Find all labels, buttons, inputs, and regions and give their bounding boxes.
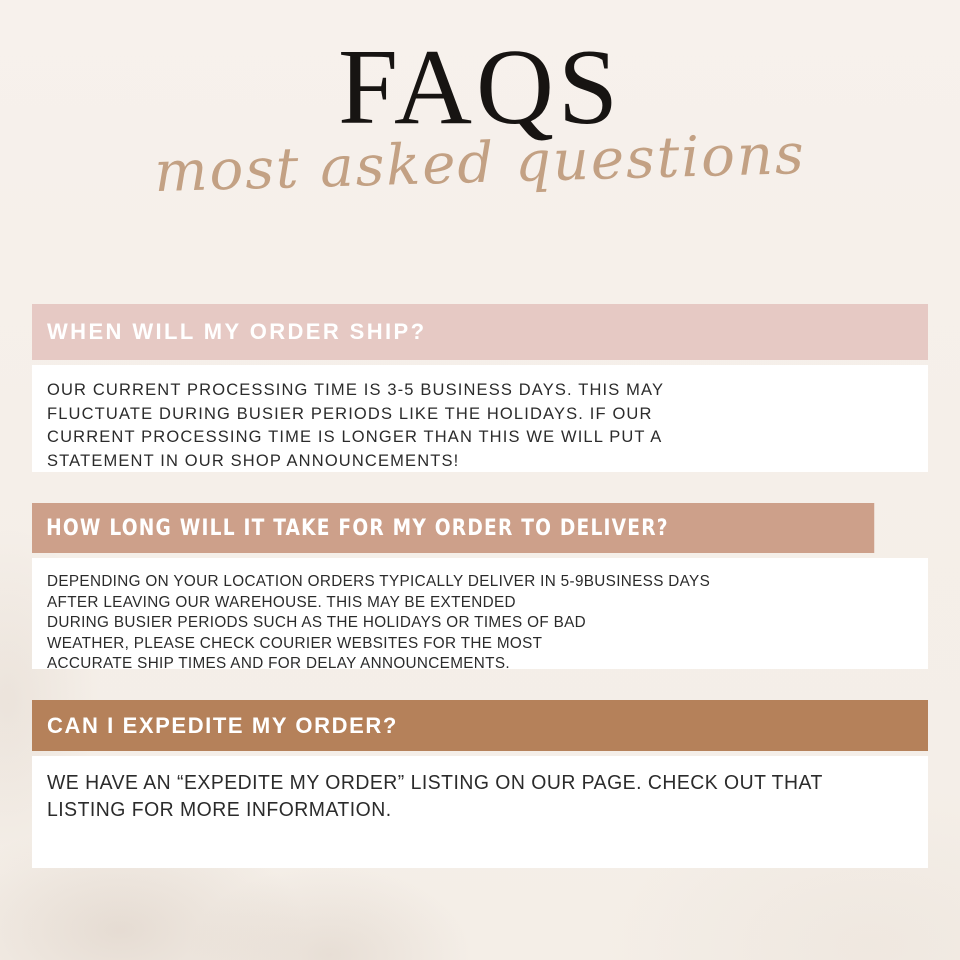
faq-answer-text: DEPENDING ON YOUR LOCATION ORDERS TYPICA… [47, 572, 871, 675]
faq-list: WHEN WILL MY ORDER SHIP? OUR CURRENT PRO… [32, 304, 928, 868]
block-spacer [32, 472, 928, 503]
page-title: FAQS [0, 0, 960, 142]
faq-answer-panel: DEPENDING ON YOUR LOCATION ORDERS TYPICA… [32, 558, 928, 669]
faq-question-bar[interactable]: CAN I EXPEDITE MY ORDER? [32, 700, 928, 751]
faq-item-order-ship: WHEN WILL MY ORDER SHIP? OUR CURRENT PRO… [32, 304, 928, 472]
faq-answer-panel: OUR CURRENT PROCESSING TIME IS 3-5 BUSIN… [32, 365, 928, 472]
faq-question-bar[interactable]: HOW LONG WILL IT TAKE FOR MY ORDER TO DE… [32, 503, 874, 553]
page-header: FAQS most asked questions [0, 0, 960, 192]
faq-answer-panel: WE HAVE AN “EXPEDITE MY ORDER” LISTING O… [32, 756, 928, 868]
faq-page: FAQS most asked questions WHEN WILL MY O… [0, 0, 960, 960]
faq-answer-text: OUR CURRENT PROCESSING TIME IS 3-5 BUSIN… [47, 379, 910, 473]
faq-item-expedite-order: CAN I EXPEDITE MY ORDER? WE HAVE AN “EXP… [32, 700, 928, 868]
faq-item-delivery-time: HOW LONG WILL IT TAKE FOR MY ORDER TO DE… [32, 503, 928, 669]
faq-question-bar[interactable]: WHEN WILL MY ORDER SHIP? [32, 304, 928, 360]
faq-answer-text: WE HAVE AN “EXPEDITE MY ORDER” LISTING O… [47, 770, 884, 824]
